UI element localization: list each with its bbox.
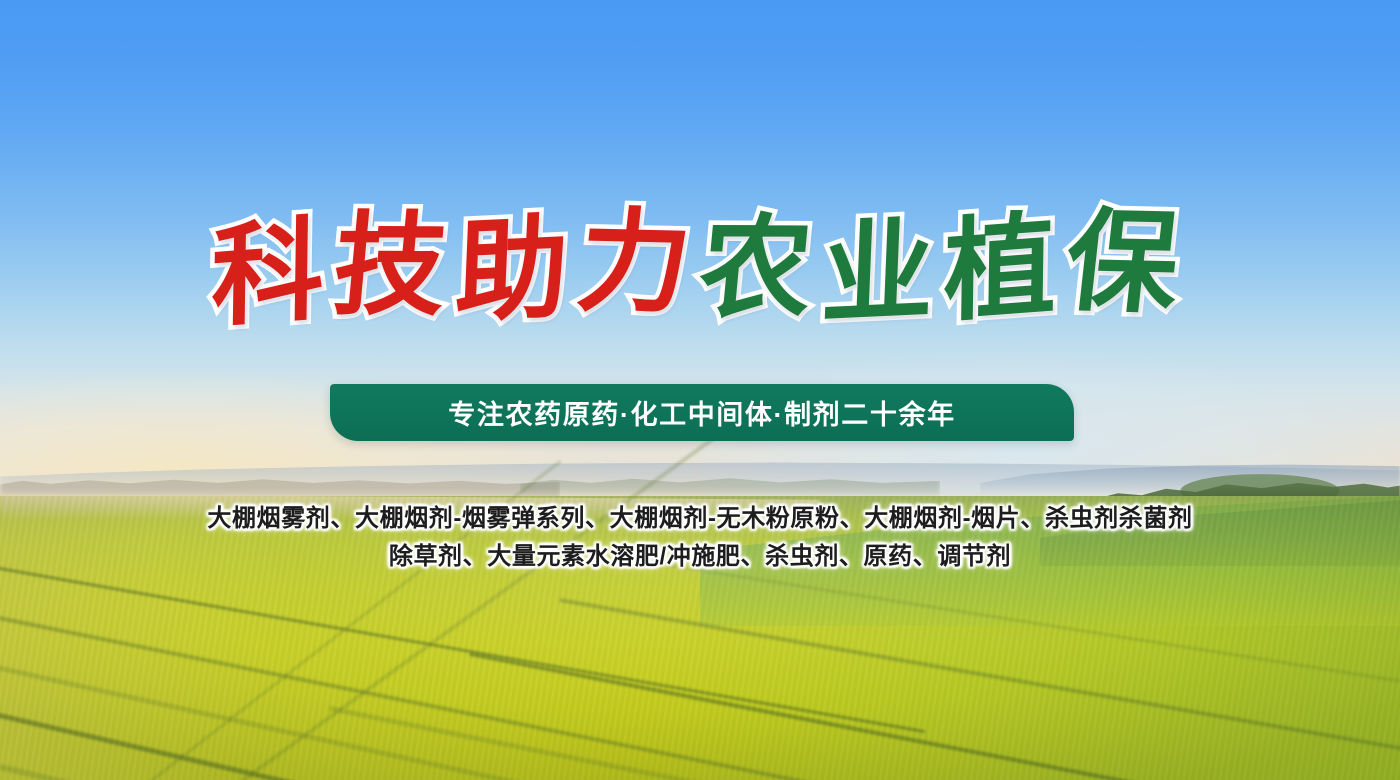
hero-banner: 科技助力农业植保 专注农药原药·化工中间体·制剂二十余年 大棚烟雾剂、大棚烟剂-… bbox=[0, 0, 1400, 780]
subtitle-text: 专注农药原药·化工中间体·制剂二十余年 bbox=[448, 393, 955, 432]
subtitle-pill: 专注农药原药·化工中间体·制剂二十余年 bbox=[330, 384, 1074, 441]
